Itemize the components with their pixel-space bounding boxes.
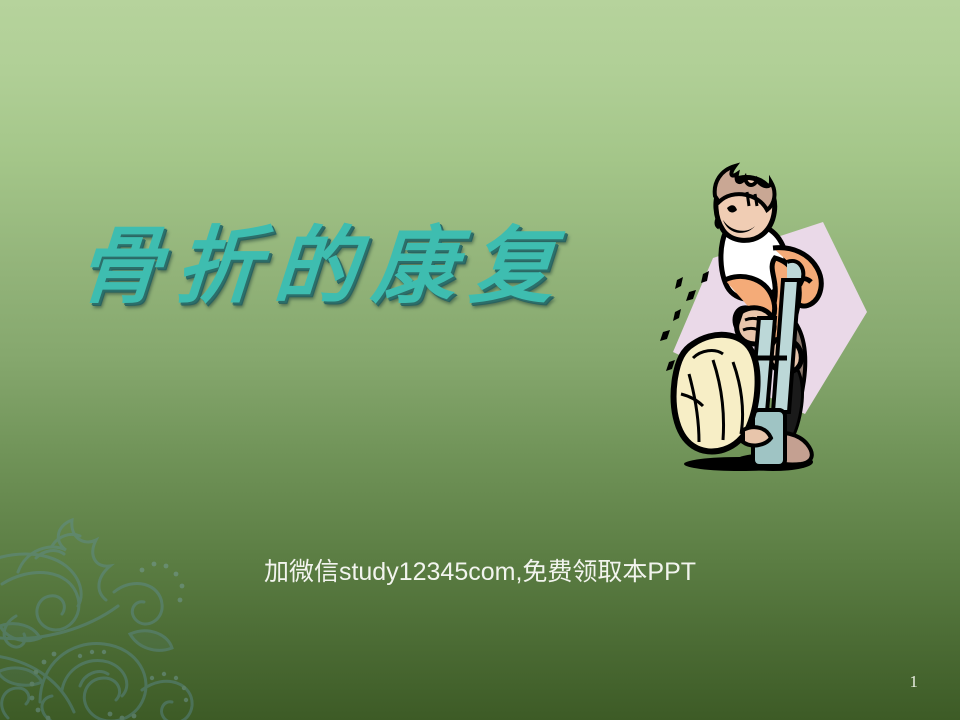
slide-title: 骨折的康复 <box>75 218 622 315</box>
person-on-crutches-illustration <box>655 162 875 502</box>
slide-subtitle: 加微信study12345com,免费领取本PPT <box>0 552 960 588</box>
floral-corner-ornament <box>0 506 222 720</box>
slide-canvas: 骨折的康复 <box>0 0 960 720</box>
page-number: 1 <box>910 672 919 692</box>
